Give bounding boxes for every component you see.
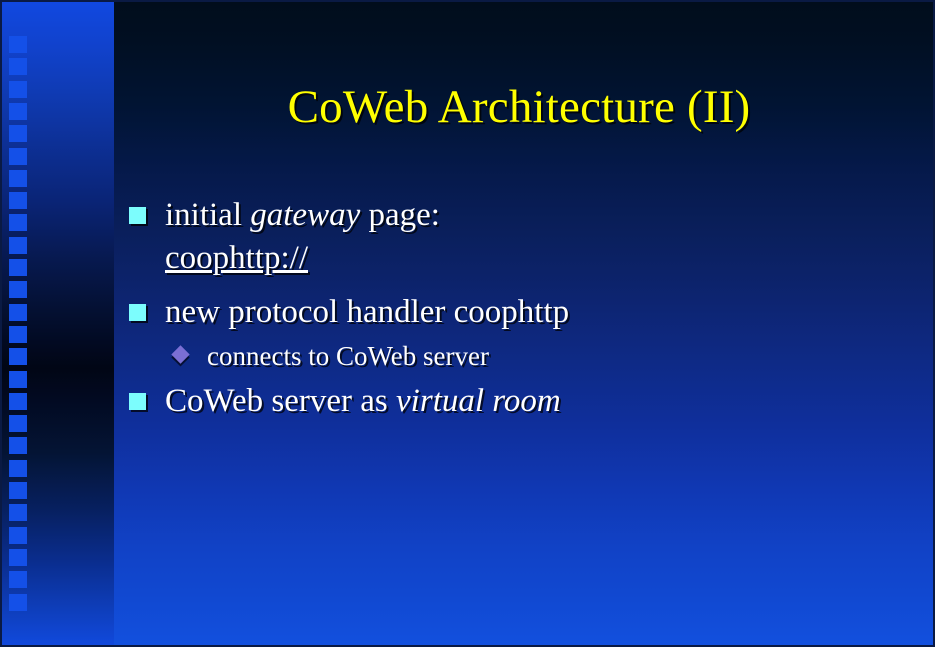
bullet-item-connects-to-server: connects to CoWeb server	[124, 336, 914, 376]
sidebar-square	[9, 415, 27, 432]
slide-left-decorative-band	[2, 2, 114, 645]
sidebar-square	[9, 304, 27, 321]
sidebar-square	[9, 259, 27, 276]
sidebar-square	[9, 460, 27, 477]
sidebar-square	[9, 125, 27, 142]
bullet-text-part-1: initial	[165, 197, 250, 233]
sidebar-square	[9, 170, 27, 187]
sidebar-square	[9, 393, 27, 410]
bullet-text-part-3: page:	[360, 197, 440, 233]
sidebar-square	[9, 571, 27, 588]
sidebar-square	[9, 594, 27, 611]
sidebar-square	[9, 527, 27, 544]
bullet-line-1: initial gateway page:	[165, 194, 914, 237]
square-bullet-icon	[129, 304, 146, 321]
bullet-text-connects-to-server: connects to CoWeb server	[207, 341, 489, 371]
slide-body-content: initial gateway page: coophttp:// new pr…	[124, 194, 914, 425]
sidebar-square	[9, 437, 27, 454]
sidebar-square	[9, 214, 27, 231]
sidebar-square	[9, 36, 27, 53]
bullet-text-emphasis-virtual-room: virtual room	[396, 383, 561, 419]
bullet-text-coophttp-url: coophttp://	[165, 240, 308, 276]
square-bullet-icon	[129, 393, 146, 410]
bullet-text-emphasis-gateway: gateway	[250, 197, 360, 233]
sidebar-square	[9, 58, 27, 75]
presentation-slide: CoWeb Architecture (II) initial gateway …	[0, 0, 935, 647]
sidebar-square	[9, 81, 27, 98]
bullet-item-protocol-handler: new protocol handler coophttp	[124, 291, 914, 334]
sidebar-square	[9, 326, 27, 343]
sidebar-square	[9, 237, 27, 254]
sidebar-square	[9, 348, 27, 365]
bullet-text-protocol-handler: new protocol handler coophttp	[165, 294, 569, 330]
sidebar-square	[9, 148, 27, 165]
sidebar-square	[9, 103, 27, 120]
diamond-bullet-icon	[171, 345, 189, 363]
slide-title: CoWeb Architecture (II)	[114, 78, 924, 136]
sidebar-square	[9, 192, 27, 209]
square-bullet-icon	[129, 207, 146, 224]
sidebar-square	[9, 371, 27, 388]
sidebar-square	[9, 549, 27, 566]
bullet-item-initial-gateway: initial gateway page: coophttp://	[124, 194, 914, 280]
bullet-text-part-1: CoWeb server as	[165, 383, 396, 419]
sidebar-square	[9, 281, 27, 298]
sidebar-square	[9, 504, 27, 521]
sidebar-square	[9, 482, 27, 499]
bullet-spacer	[124, 282, 914, 291]
bullet-line-2: coophttp://	[165, 237, 914, 280]
bullet-item-virtual-room: CoWeb server as virtual room	[124, 380, 914, 423]
sidebar-square-column	[9, 36, 27, 616]
